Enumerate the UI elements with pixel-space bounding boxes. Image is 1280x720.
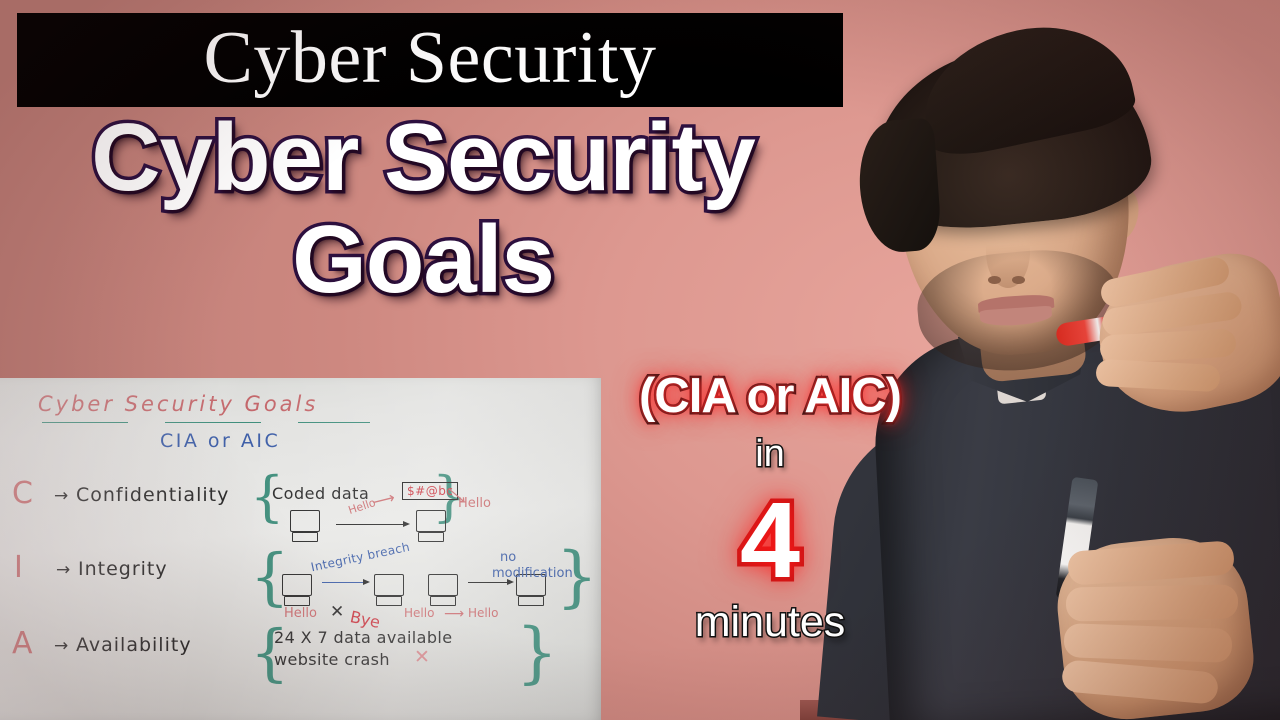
monitor-icon <box>374 574 404 606</box>
nostril-right <box>1012 276 1025 284</box>
acronym-label: (CIA or AIC) <box>560 372 980 421</box>
top-banner: Cyber Security <box>17 13 843 107</box>
diagram2-breach-label: Integrity breach <box>310 540 411 575</box>
brace-right-row3: } <box>516 620 558 686</box>
heading-underline-2 <box>165 422 261 423</box>
duration-unit: minutes <box>560 598 980 647</box>
hair-side <box>855 117 942 254</box>
whiteboard-heading: Cyber Security Goals <box>38 392 318 416</box>
whiteboard-subheading: CIA or AIC <box>160 430 280 452</box>
duration-number: 4 <box>560 486 980 594</box>
finger <box>1063 623 1232 663</box>
diagram2-ok-arrow-icon <box>468 582 512 583</box>
diagram2-cross-icon: ✕ <box>330 602 344 622</box>
diagram2-ok-inline-arrow-icon: ⟶ <box>444 606 464 622</box>
monitor-icon <box>416 510 446 542</box>
main-title-line2: Goals <box>8 214 838 306</box>
diagram1-encrypt-arrow-icon: ⟶ <box>370 488 397 512</box>
diagram3-line2: website crash <box>274 650 390 669</box>
row-letter-i: I <box>14 550 23 585</box>
whiteboard: Cyber Security Goals CIA or AIC C → Conf… <box>0 378 601 720</box>
diagram3-line1: 24 X 7 data available <box>274 628 453 647</box>
preposition-label: in <box>560 433 980 476</box>
finger <box>1066 585 1239 622</box>
top-banner-label: Cyber Security <box>204 21 657 95</box>
diagram3-cross-icon: ✕ <box>414 646 430 668</box>
diagram2-ok-received: Hello <box>468 606 498 620</box>
heading-underline-1 <box>42 422 128 423</box>
heading-underline-3 <box>298 422 370 423</box>
diagram2-ok-sent: Hello <box>404 606 434 620</box>
main-title: Cyber Security Goals <box>8 112 838 306</box>
main-title-line1: Cyber Security <box>8 112 838 204</box>
diagram2-no-modification-line1: no <box>500 550 516 565</box>
nostril-left <box>988 276 1001 284</box>
row-arrow-i: → <box>56 560 70 580</box>
monitor-icon <box>428 574 458 606</box>
row-arrow-a: → <box>54 636 68 656</box>
row-word-integrity: Integrity <box>78 558 168 580</box>
diagram1-transfer-arrow-icon <box>336 524 408 525</box>
row-word-availability: Availability <box>76 634 192 656</box>
thumbnail-canvas: Cyber Security Goals CIA or AIC C → Conf… <box>0 0 1280 720</box>
row-letter-c: C <box>12 476 33 511</box>
row-letter-a: A <box>12 626 33 661</box>
monitor-icon <box>282 574 312 606</box>
diagram2-breach-arrow-icon <box>322 582 368 583</box>
right-text-stack: (CIA or AIC) in 4 minutes <box>560 372 980 647</box>
row-arrow-c: → <box>54 486 68 506</box>
monitor-icon <box>290 510 320 542</box>
diagram1-plaintext-out: Hello <box>458 496 491 511</box>
diagram1-coded-data-label: Coded data <box>272 484 369 503</box>
row-word-confidentiality: Confidentiality <box>76 484 229 506</box>
